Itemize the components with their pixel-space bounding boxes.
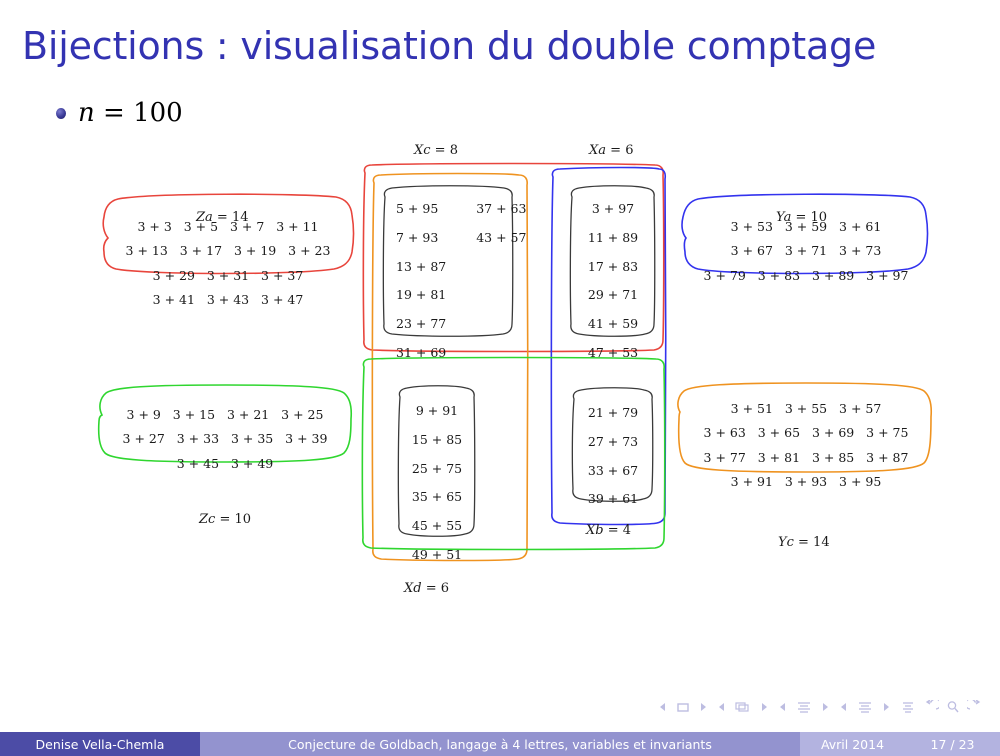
- search-icon[interactable]: [946, 700, 960, 713]
- zc-label: Zc = 10: [199, 512, 251, 527]
- bullet-equals: =: [95, 98, 133, 128]
- doc-icon[interactable]: [899, 701, 917, 713]
- section-next-icon[interactable]: [880, 701, 892, 713]
- subsection-prev-icon[interactable]: [777, 701, 789, 713]
- bullet-dot-icon: [56, 108, 66, 119]
- zc-content: 3 + 9 3 + 15 3 + 21 3 + 25 3 + 27 3 + 33…: [100, 403, 350, 476]
- slide-icon[interactable]: [676, 701, 690, 713]
- forward-icon[interactable]: [967, 700, 982, 713]
- bullet-symbol: n: [78, 98, 95, 128]
- yc-content: 3 + 51 3 + 55 3 + 57 3 + 63 3 + 65 3 + 6…: [680, 397, 932, 495]
- yc-label: Yc = 14: [778, 535, 830, 550]
- xb-content: 21 + 79 27 + 73 33 + 67 39 + 61: [579, 399, 647, 514]
- bullet-item: n = 100: [56, 98, 183, 128]
- section-icon[interactable]: [857, 701, 873, 713]
- section-prev-icon[interactable]: [838, 701, 850, 713]
- footer-page-number: 17 / 23: [905, 732, 1000, 756]
- slide-next-icon[interactable]: [697, 701, 709, 713]
- frame-prev-icon[interactable]: [716, 701, 728, 713]
- back-icon[interactable]: [924, 700, 939, 713]
- footer-title: Conjecture de Goldbach, langage à 4 lett…: [200, 732, 800, 756]
- xb-label: Xb = 4: [586, 523, 631, 538]
- footer-date: Avril 2014: [800, 732, 905, 756]
- xd-content: 9 + 91 15 + 85 25 + 75 35 + 65 45 + 55 4…: [404, 397, 470, 570]
- subsection-icon[interactable]: [796, 701, 812, 713]
- slide-prev-icon[interactable]: [657, 701, 669, 713]
- xc-column-right: 37 + 63 43 + 57: [476, 195, 526, 368]
- xd-label: Xd = 6: [404, 581, 449, 596]
- footer-author: Denise Vella-Chemla: [0, 732, 200, 756]
- xc-column-left: 5 + 95 7 + 93 13 + 87 19 + 81 23 + 77 31…: [396, 195, 446, 368]
- bullet-value: 100: [133, 98, 183, 128]
- subsection-next-icon[interactable]: [819, 701, 831, 713]
- frame-next-icon[interactable]: [758, 701, 770, 713]
- ya-content: 3 + 53 3 + 59 3 + 61 3 + 67 3 + 71 3 + 7…: [684, 215, 928, 288]
- beamer-navigation-bar[interactable]: [657, 700, 982, 713]
- page-title: Bijections : visualisation du double com…: [22, 24, 876, 68]
- xc-content: 5 + 95 7 + 93 13 + 87 19 + 81 23 + 77 31…: [396, 195, 526, 368]
- bijection-diagram: Za = 14 Zc = 10 Xc = 8 Xa = 6 Xd = 6 Xb …: [0, 135, 1000, 615]
- bullet-item-label: n = 100: [78, 98, 183, 128]
- za-content: 3 + 3 3 + 5 3 + 7 3 + 11 3 + 13 3 + 17 3…: [104, 215, 352, 313]
- xa-label: Xa = 6: [589, 143, 633, 158]
- frames-icon[interactable]: [735, 701, 751, 713]
- xa-content: 3 + 97 11 + 89 17 + 83 29 + 71 41 + 59 4…: [578, 195, 648, 368]
- slide-footer: Denise Vella-Chemla Conjecture de Goldba…: [0, 732, 1000, 756]
- xc-label: Xc = 8: [414, 143, 458, 158]
